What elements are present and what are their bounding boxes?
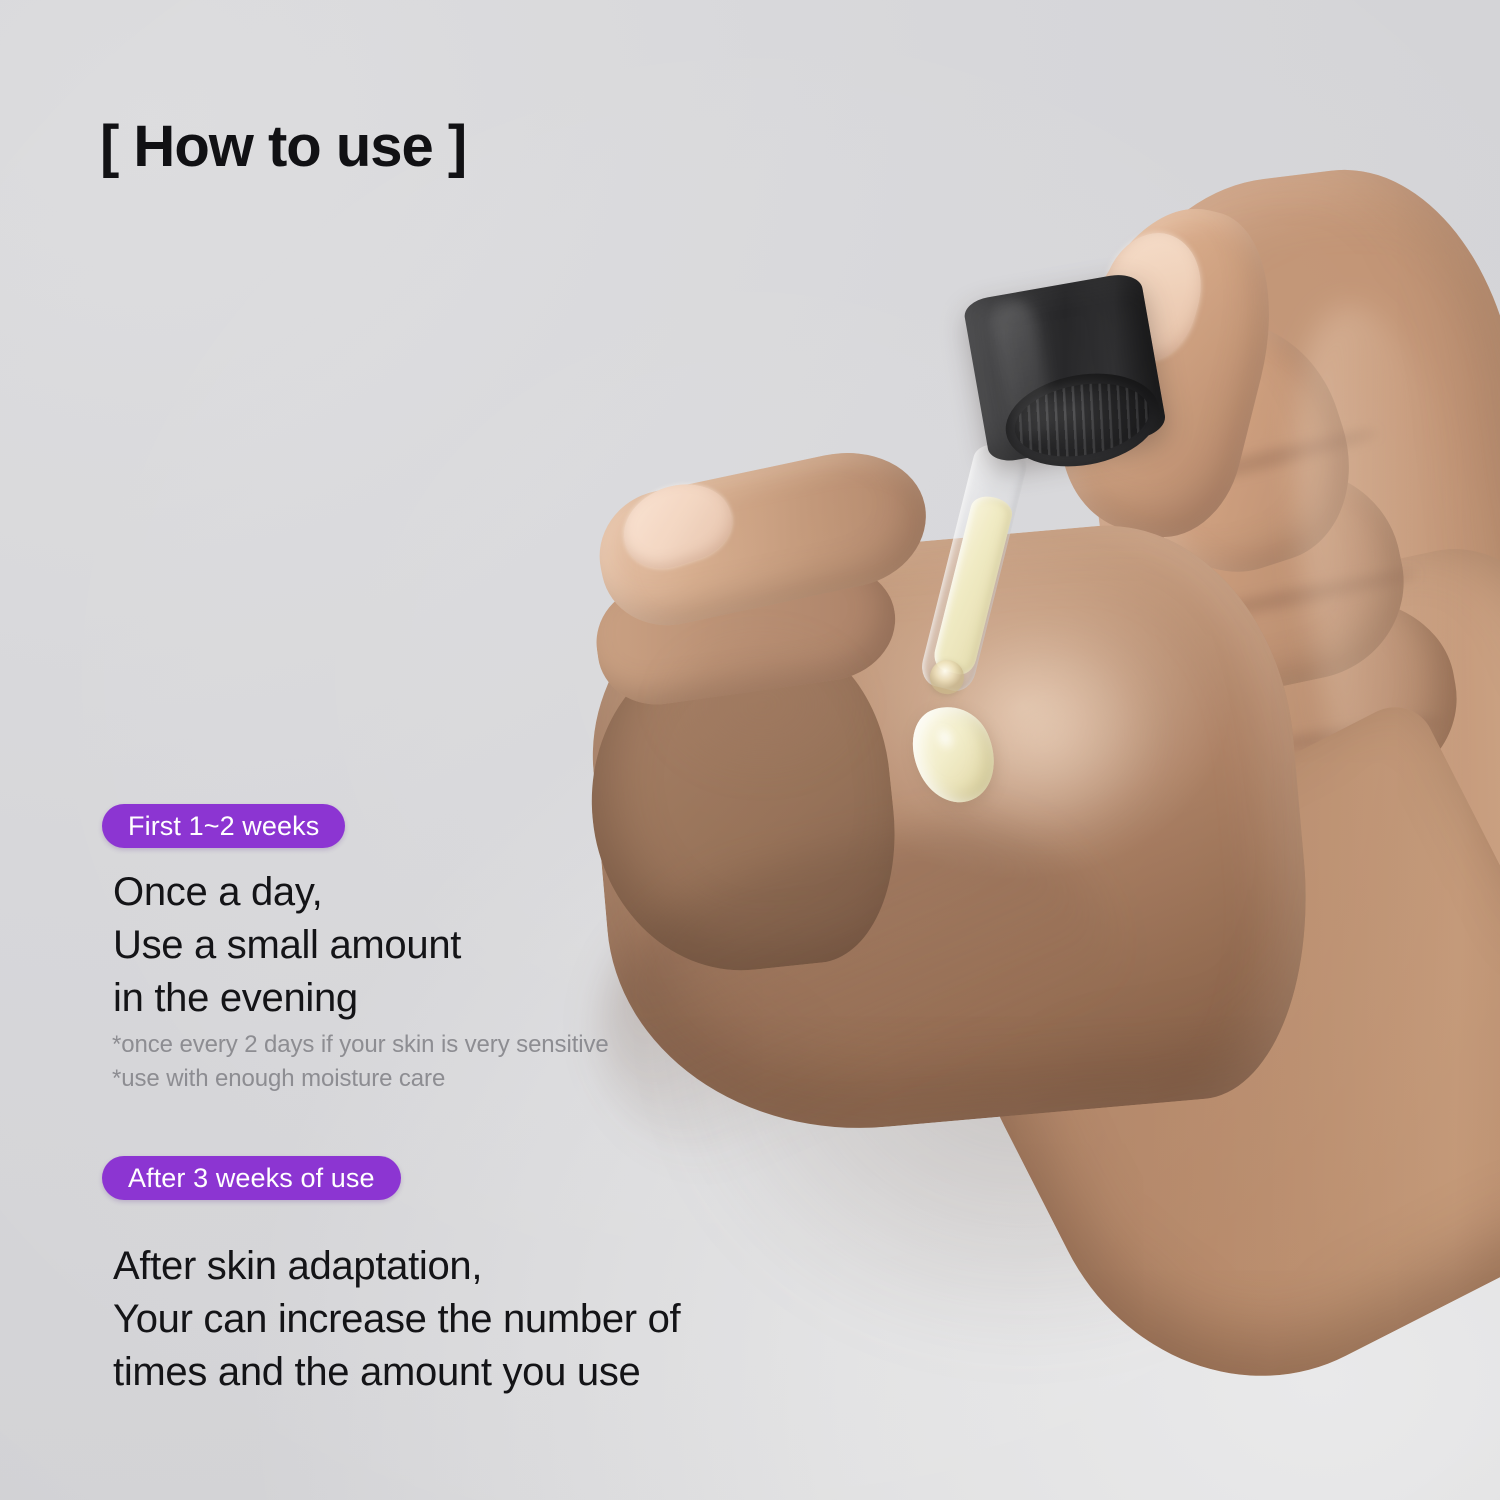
step-1-line-3: in the evening [113, 972, 461, 1025]
step-1-line-1: Once a day, [113, 866, 461, 919]
step-2-line-3: times and the amount you use [113, 1346, 680, 1399]
step-1-notes: *once every 2 days if your skin is very … [112, 1028, 609, 1096]
step-1-line-2: Use a small amount [113, 919, 461, 972]
step-1-note-2: *use with enough moisture care [112, 1062, 609, 1096]
step-badge-first-weeks: First 1~2 weeks [102, 804, 345, 848]
page-title: [ How to use ] [100, 113, 466, 180]
step-badge-after-three-weeks: After 3 weeks of use [102, 1156, 401, 1200]
step-1-body: Once a day, Use a small amount in the ev… [113, 866, 461, 1026]
step-1-note-1: *once every 2 days if your skin is very … [112, 1028, 609, 1062]
step-2-line-1: After skin adaptation, [113, 1240, 680, 1293]
promo-image-canvas: [ How to use ] First 1~2 weeks Once a da… [0, 0, 1500, 1500]
text-overlay: [ How to use ] First 1~2 weeks Once a da… [0, 0, 1500, 1500]
step-2-line-2: Your can increase the number of [113, 1293, 680, 1346]
step-2-body: After skin adaptation, Your can increase… [113, 1240, 680, 1400]
